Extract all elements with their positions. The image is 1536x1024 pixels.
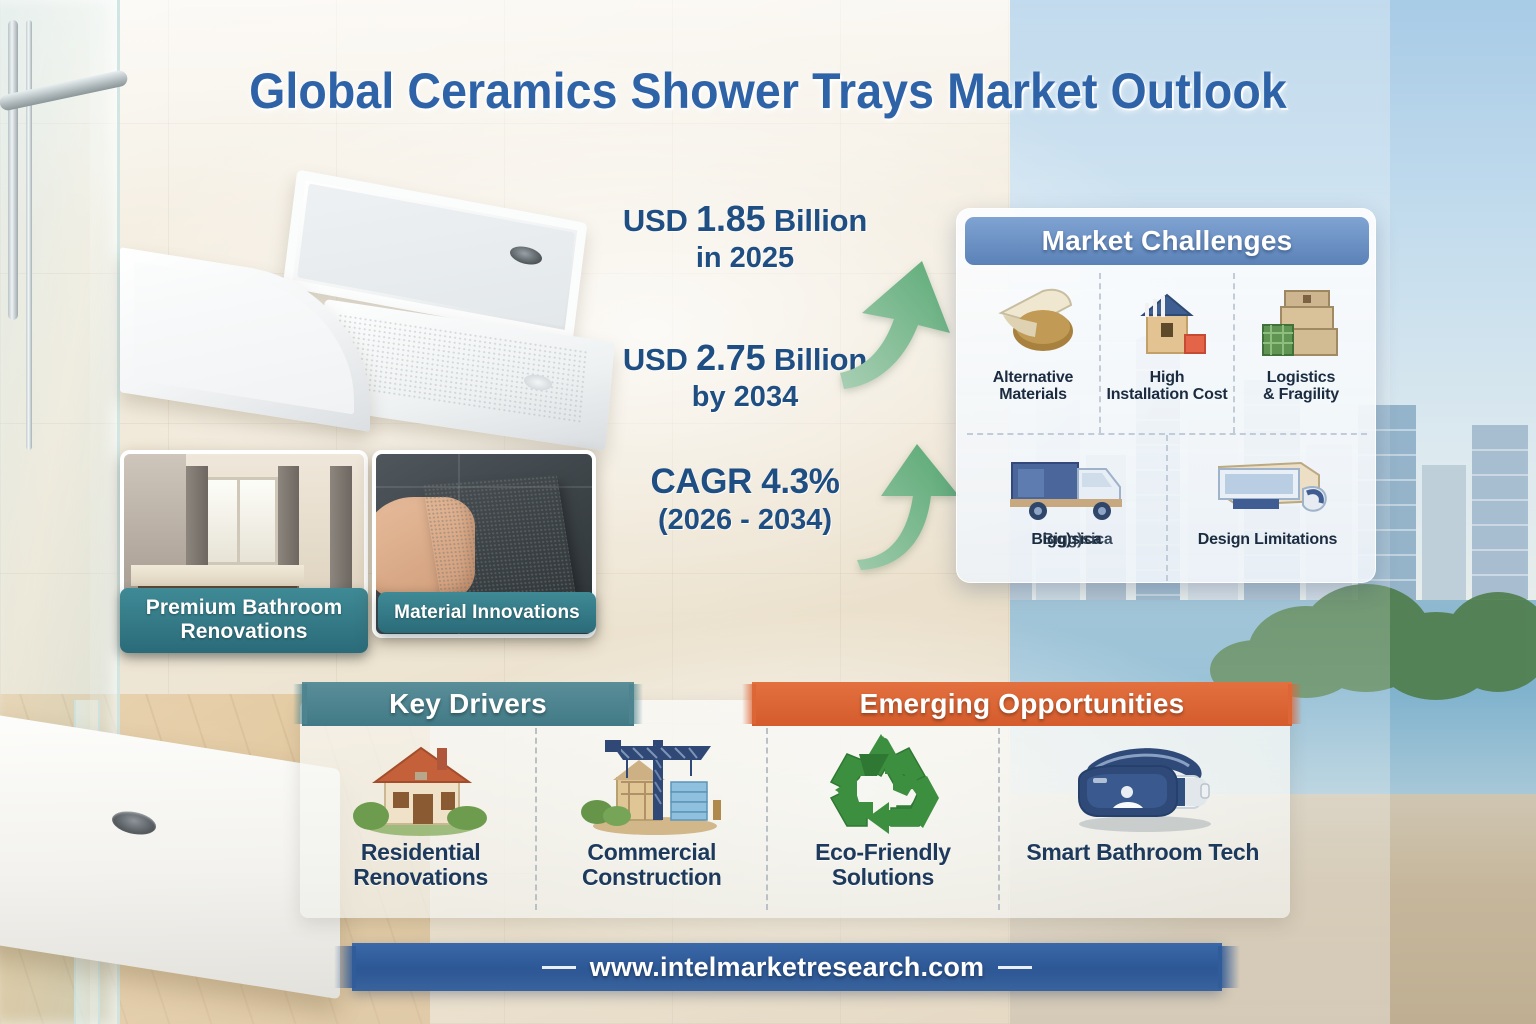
footer-dash-right [998,966,1032,969]
driver-residential-renovations[interactable]: Residential Renovations [306,728,535,910]
challenge-label: Logistics & Fragility [1263,369,1339,404]
crane-icon [577,728,727,840]
opportunity-label-line1: Eco-Friendly [815,840,951,865]
driver-label-line2: Construction [582,865,722,890]
driver-commercial-construction[interactable]: Commercial Construction [535,728,766,910]
opportunity-label: Smart Bathroom Tech [1026,840,1259,865]
market-challenges-row-2: Bigg)sica Bigg)sica [967,433,1367,581]
opportunity-label: Eco-Friendly Solutions [815,840,951,890]
challenge-label: Design Limitations [1198,531,1338,548]
growth-arrow-icon-bottom [855,440,970,570]
driver-label: Commercial Construction [582,840,722,890]
material-innovations-caption: Material Innovations [378,592,596,633]
infographic-canvas: Global Ceramics Shower Trays Market Outl… [0,0,1536,1024]
page-title: Global Ceramics Shower Trays Market Outl… [54,62,1482,120]
shower-rail-icon [8,20,18,320]
challenge-label-line2: Installation Cost [1106,386,1227,403]
market-challenges-panel: Market Challenges Alternative Mater [956,208,1376,583]
opportunity-label-line2: Solutions [815,865,951,890]
cagr-period: (2026 - 2034) [590,504,900,537]
market-challenges-header: Market Challenges [965,217,1369,265]
footer-dash-left [542,966,576,969]
opportunity-label-line1: Smart Bathroom Tech [1026,840,1259,865]
house-icon [351,728,491,840]
driver-label: Residential Renovations [353,840,488,890]
premium-bathroom-caption: Premium Bathroom Renovations [120,588,368,653]
shipping-crates-icon [1255,281,1347,365]
bathroom-drape-right [330,466,352,604]
challenge-high-installation-cost[interactable]: High Installation Cost [1099,273,1233,433]
cagr-value: CAGR 4.3% [590,462,900,502]
stat-cagr: CAGR 4.3% (2026 - 2034) [590,462,900,537]
shower-rail-secondary-icon [26,20,32,450]
bathroom-vanity-counter [131,565,304,586]
driver-label-line2: Renovations [353,865,488,890]
bathroom-window [196,477,278,565]
sand-bag-icon [987,281,1079,365]
growth-arrow-icon-top [838,255,958,390]
market-challenges-row-1: Alternative Materials [967,273,1367,433]
challenge-alternative-materials[interactable]: Alternative Materials [967,273,1099,433]
lower-items: Residential Renovations [306,728,1286,910]
challenge-label-line1: Design Limitations [1198,531,1338,548]
challenge-design-limitations[interactable]: Design Limitations [1166,435,1367,581]
challenge-label-line2: & Fragility [1263,386,1339,403]
challenge-label: Alternative Materials [993,369,1074,404]
challenge-logistics-fragility[interactable]: Logistics & Fragility [1233,273,1367,433]
challenge-delivery[interactable]: Bigg)sica Bigg)sica [967,435,1166,581]
footer-url[interactable]: www.intelmarketresearch.com [590,952,985,983]
opportunity-eco-friendly-solutions[interactable]: Eco-Friendly Solutions [766,728,997,910]
stat-2025-value-line: USD 1.85 Billion [590,198,900,240]
house-construction-icon [1121,281,1213,365]
opportunity-smart-bathroom-tech[interactable]: Smart Bathroom Tech [998,728,1286,910]
challenge-label: Bigg)sica Bigg)sica [1031,531,1101,548]
challenge-label-line1: Alternative [993,369,1074,386]
challenge-label-line2: Materials [993,386,1074,403]
shower-tray-box-icon [1203,443,1333,527]
emerging-opportunities-banner: Emerging Opportunities [752,682,1292,726]
market-challenges-grid: Alternative Materials [967,273,1367,581]
challenge-label-overlay: Bigg)sica [1042,531,1112,548]
key-drivers-banner: Key Drivers [302,682,634,726]
challenge-label: High Installation Cost [1106,369,1227,404]
challenge-label-line1: High [1106,369,1227,386]
shower-trays-product-image [120,185,590,435]
footer-bar: www.intelmarketresearch.com [352,943,1222,991]
ceramic-tile-sample [423,475,576,602]
recycle-icon [823,728,943,840]
footer-content: www.intelmarketresearch.com [352,943,1222,991]
driver-label-line1: Commercial [582,840,722,865]
delivery-truck-icon [1002,443,1132,527]
vr-headset-icon [1053,728,1233,840]
challenge-label-line1: Logistics [1263,369,1339,386]
driver-label-line1: Residential [353,840,488,865]
